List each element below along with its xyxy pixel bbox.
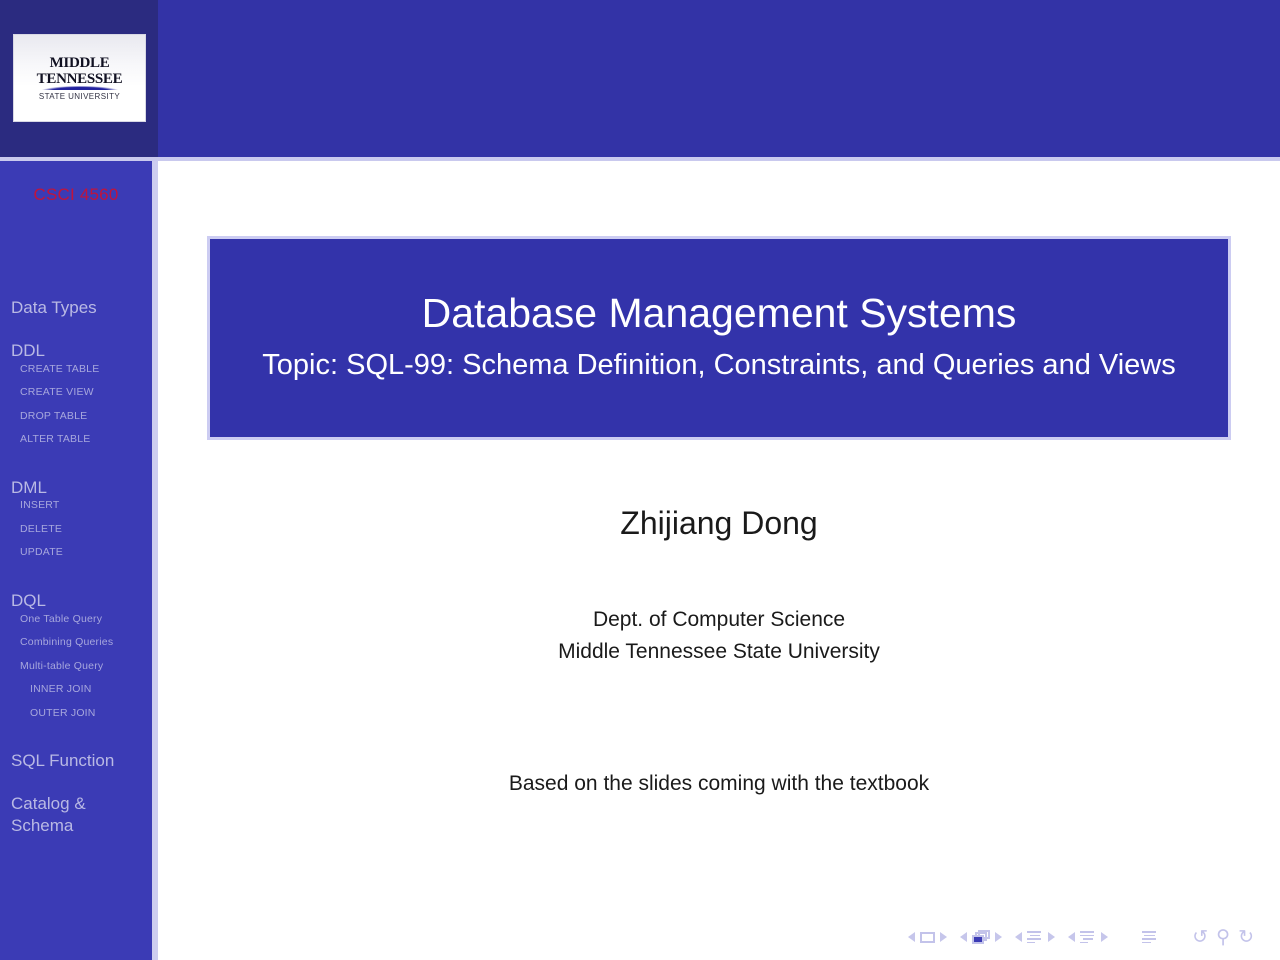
previous-slide-icon[interactable]: [908, 932, 915, 942]
subsection-icon[interactable]: [1027, 930, 1043, 944]
forward-icon[interactable]: ↻: [1238, 928, 1254, 947]
sidebar-item-sql-function[interactable]: SQL Function: [0, 750, 152, 772]
page-subtitle: Topic: SQL-99: Schema Definition, Constr…: [238, 347, 1199, 384]
search-icon[interactable]: ⚲: [1216, 928, 1230, 947]
history-nav-group: ↺ ⚲ ↻: [1192, 928, 1254, 947]
frame-icon[interactable]: [972, 930, 990, 944]
sidebar-item-create-table[interactable]: CREATE TABLE: [0, 364, 152, 375]
sidebar-spacer: [0, 321, 152, 340]
institute-block: Dept. of Computer Science Middle Tenness…: [158, 604, 1280, 667]
section-icon[interactable]: [1080, 930, 1096, 944]
logo-text-line3: STATE UNIVERSITY: [39, 92, 120, 101]
header-separator: [0, 157, 1280, 161]
section-nav-group: [1068, 930, 1108, 944]
sidebar-item-data-types[interactable]: Data Types: [0, 297, 152, 319]
sidebar-item-alter-table[interactable]: ALTER TABLE: [0, 434, 152, 445]
sidebar-item-update[interactable]: UPDATE: [0, 547, 152, 558]
sidebar-item-insert[interactable]: INSERT: [0, 500, 152, 511]
sidebar-item-dql[interactable]: DQL: [0, 590, 152, 612]
logo-text-line1: MIDDLE: [50, 56, 110, 71]
next-frame-icon[interactable]: [995, 932, 1002, 942]
university-logo: MIDDLE TENNESSEE STATE UNIVERSITY: [13, 34, 146, 122]
sidebar-item-multi-table-query[interactable]: Multi-table Query: [0, 661, 152, 672]
previous-subsection-icon[interactable]: [1015, 932, 1022, 942]
next-subsection-icon[interactable]: [1048, 932, 1055, 942]
title-box: Database Management Systems Topic: SQL-9…: [207, 236, 1231, 440]
sidebar-spacer: [0, 458, 152, 477]
slide-icon[interactable]: [920, 932, 935, 943]
logo-swoosh-icon: [34, 85, 126, 90]
header-logo-panel: MIDDLE TENNESSEE STATE UNIVERSITY: [0, 0, 158, 157]
institute-department: Dept. of Computer Science: [158, 604, 1280, 636]
author-name: Zhijiang Dong: [158, 505, 1280, 542]
beamer-navigation-symbols: ↺ ⚲ ↻: [908, 924, 1254, 950]
sidebar-item-one-table-query[interactable]: One Table Query: [0, 614, 152, 625]
sidebar-spacer: [0, 731, 152, 750]
sidebar-spacer: [0, 571, 152, 590]
sidebar-item-create-view[interactable]: CREATE VIEW: [0, 387, 152, 398]
header-band: MIDDLE TENNESSEE STATE UNIVERSITY: [0, 0, 1280, 157]
sidebar-item-inner-join[interactable]: INNER JOIN: [0, 684, 152, 695]
frame-nav-group: [960, 930, 1002, 944]
page-title: Database Management Systems: [422, 292, 1017, 335]
institute-university: Middle Tennessee State University: [158, 636, 1280, 668]
sidebar-item-combining-queries[interactable]: Combining Queries: [0, 637, 152, 648]
sidebar-item-outer-join[interactable]: OUTER JOIN: [0, 708, 152, 719]
sidebar-item-catalog-schema[interactable]: Catalog & Schema: [0, 793, 152, 837]
sidebar-separator: [152, 161, 158, 960]
next-slide-icon[interactable]: [940, 932, 947, 942]
source-note: Based on the slides coming with the text…: [158, 772, 1280, 796]
sidebar-nav-list: Data Types DDL CREATE TABLE CREATE VIEW …: [0, 297, 152, 838]
sidebar-item-drop-table[interactable]: DROP TABLE: [0, 411, 152, 422]
slide-nav-group: [908, 932, 947, 943]
previous-frame-icon[interactable]: [960, 932, 967, 942]
sidebar-course-code: CSCI 4560: [0, 185, 152, 205]
back-icon[interactable]: ↺: [1192, 928, 1208, 947]
next-section-icon[interactable]: [1101, 932, 1108, 942]
subsection-nav-group: [1015, 930, 1055, 944]
document-nav-group: [1142, 930, 1158, 944]
document-icon[interactable]: [1142, 930, 1158, 944]
sidebar-item-ddl[interactable]: DDL: [0, 340, 152, 362]
sidebar-item-delete[interactable]: DELETE: [0, 524, 152, 535]
sidebar-item-dml[interactable]: DML: [0, 477, 152, 499]
sidebar-spacer: [0, 774, 152, 793]
previous-section-icon[interactable]: [1068, 932, 1075, 942]
